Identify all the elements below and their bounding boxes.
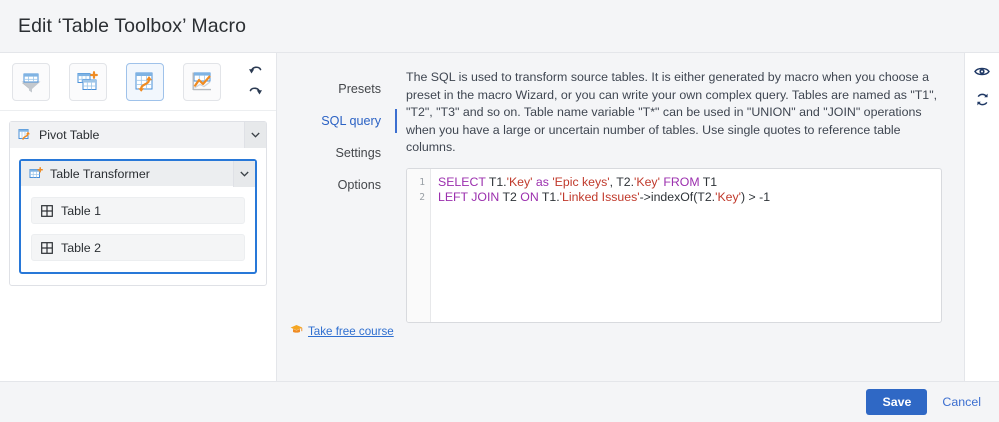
- code-token: 'Key': [634, 175, 660, 189]
- tree-node-table-transformer-body: Table 1: [21, 186, 255, 272]
- refresh-icon[interactable]: [975, 92, 990, 107]
- code-token: ON: [520, 190, 538, 204]
- page-title: Edit ‘Table Toolbox’ Macro: [18, 15, 246, 38]
- tab-sql-query-label: SQL query: [321, 114, 381, 128]
- save-button[interactable]: Save: [866, 389, 927, 415]
- code-token: FROM: [663, 175, 699, 189]
- code-token: , T2.: [610, 175, 634, 189]
- macro-editor-dialog: Edit ‘Table Toolbox’ Macro: [0, 0, 999, 422]
- tree-node-pivot-table-label: Pivot Table: [39, 128, 244, 142]
- tab-content-sql-query: The SQL is used to transform source tabl…: [397, 53, 964, 381]
- code-token: LEFT JOIN: [438, 190, 499, 204]
- tree-node-pivot-table-body: Table Transformer: [10, 148, 266, 285]
- preview-eye-icon[interactable]: [974, 65, 990, 78]
- table-transformer-small-icon: [29, 167, 43, 181]
- tab-presets[interactable]: Presets: [277, 73, 397, 105]
- table-icon: [41, 205, 53, 217]
- tree-leaf-table-1[interactable]: Table 1: [31, 197, 245, 224]
- table-transformer-icon: [132, 69, 158, 95]
- editor-line-number-gutter: 1 2: [407, 169, 431, 322]
- tab-options[interactable]: Options: [277, 169, 397, 201]
- graduation-cap-icon: [290, 322, 303, 340]
- left-panel: Pivot Table: [0, 53, 277, 381]
- toolbar-button-table-transformer[interactable]: [126, 63, 164, 101]
- dialog-footer: Save Cancel: [0, 381, 999, 422]
- macro-toolbar: [0, 53, 276, 111]
- table-icon: [41, 242, 53, 254]
- tab-list: Presets SQL query Settings Options: [277, 53, 397, 381]
- tree-leaf-table-2-label: Table 2: [61, 241, 101, 255]
- tree-node-table-transformer-header[interactable]: Table Transformer: [21, 161, 255, 186]
- code-line-2: LEFT JOIN T2 ON T1.'Linked Issues'->inde…: [438, 190, 941, 205]
- code-token: 'Epic keys': [552, 175, 609, 189]
- undo-button[interactable]: [246, 61, 264, 77]
- take-free-course-label: Take free course: [308, 325, 394, 338]
- code-token: ->indexOf(T2.: [640, 190, 716, 204]
- dialog-titlebar: Edit ‘Table Toolbox’ Macro: [0, 0, 999, 53]
- redo-button[interactable]: [246, 82, 264, 98]
- code-token: T1: [700, 175, 718, 189]
- tab-settings[interactable]: Settings: [277, 137, 397, 169]
- undo-icon: [248, 63, 263, 76]
- code-line-1: SELECT T1.'Key' as 'Epic keys', T2.'Key'…: [438, 175, 941, 190]
- redo-icon: [248, 84, 263, 97]
- take-free-course-link[interactable]: Take free course: [290, 322, 394, 340]
- dialog-body: Pivot Table: [0, 53, 999, 381]
- tab-sql-query[interactable]: SQL query: [277, 105, 397, 137]
- code-token: 'Linked Issues': [560, 190, 640, 204]
- table-excerpt-icon: [75, 69, 101, 95]
- code-token: ) > -1: [741, 190, 770, 204]
- code-token: 'Key': [715, 190, 741, 204]
- code-token: T1.: [486, 175, 507, 189]
- line-number: 2: [407, 190, 425, 205]
- line-number: 1: [407, 175, 425, 190]
- tree-node-pivot-table: Pivot Table: [9, 121, 267, 286]
- tab-options-label: Options: [338, 178, 381, 192]
- center-panel: Presets SQL query Settings Options: [277, 53, 964, 381]
- chevron-down-icon[interactable]: [244, 122, 266, 148]
- tree-leaf-table-1-label: Table 1: [61, 204, 101, 218]
- code-token: SELECT: [438, 175, 486, 189]
- code-token: T2: [499, 190, 520, 204]
- tree-node-table-transformer: Table Transformer: [19, 159, 257, 274]
- toolbar-button-table-filter[interactable]: [12, 63, 50, 101]
- chevron-down-icon[interactable]: [233, 161, 255, 187]
- pivot-table-icon: [18, 128, 32, 142]
- cancel-button[interactable]: Cancel: [940, 389, 983, 415]
- code-token: as: [536, 175, 549, 189]
- editor-code-area[interactable]: SELECT T1.'Key' as 'Epic keys', T2.'Key'…: [431, 169, 941, 322]
- tree-node-pivot-table-header[interactable]: Pivot Table: [10, 122, 266, 148]
- tree-leaf-table-2[interactable]: Table 2: [31, 234, 245, 261]
- chart-from-table-icon: [189, 69, 215, 95]
- table-filter-icon: [18, 69, 44, 95]
- tree-node-table-transformer-label: Table Transformer: [50, 167, 233, 181]
- sql-code-editor[interactable]: 1 2 SELECT T1.'Key' as 'Epic keys', T2.'…: [406, 168, 942, 323]
- code-token: 'Key': [507, 175, 533, 189]
- macro-tree: Pivot Table: [0, 111, 276, 286]
- tab-presets-label: Presets: [338, 82, 381, 96]
- toolbar-button-table-excerpt[interactable]: [69, 63, 107, 101]
- sql-description: The SQL is used to transform source tabl…: [406, 69, 942, 157]
- tab-settings-label: Settings: [335, 146, 381, 160]
- undo-redo-group: [246, 61, 264, 98]
- toolbar-button-chart-from-table[interactable]: [183, 63, 221, 101]
- code-token: T1.: [539, 190, 560, 204]
- right-rail: [964, 53, 999, 381]
